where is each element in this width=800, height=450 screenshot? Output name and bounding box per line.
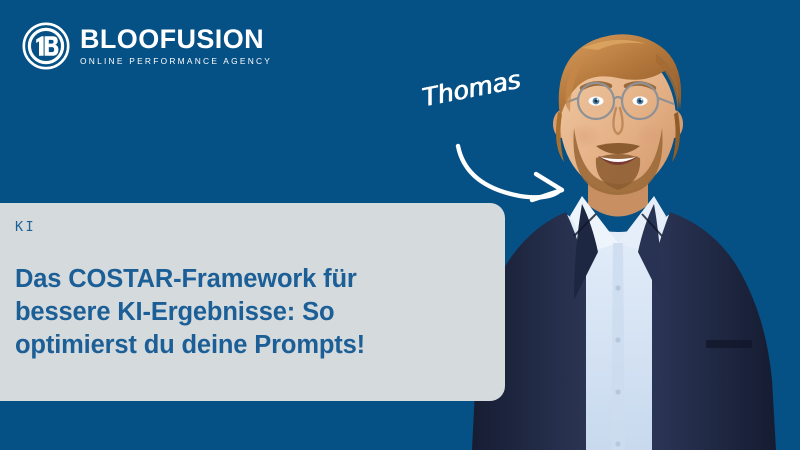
heading-line-3: optimierst du deine Prompts! <box>15 331 365 359</box>
person-portrait <box>470 0 800 450</box>
logo-wordmark: BLOOFUSION ONLINE PERFORMANCE AGENCY <box>80 26 272 65</box>
bloofusion-circle-monogram-icon <box>22 22 70 70</box>
brand-logo[interactable]: BLOOFUSION ONLINE PERFORMANCE AGENCY <box>22 22 272 70</box>
heading-line-2: bessere KI-Ergebnisse: So <box>15 298 334 326</box>
heading-line-1: Das COSTAR-Framework für <box>15 265 357 293</box>
logo-name: BLOOFUSION <box>80 26 272 53</box>
logo-tagline: ONLINE PERFORMANCE AGENCY <box>80 57 272 65</box>
content-card: KI Das COSTAR-Framework für bessere KI-E… <box>0 203 505 401</box>
slide-canvas: BLOOFUSION ONLINE PERFORMANCE AGENCY Tho… <box>0 0 800 450</box>
category-label: KI <box>15 221 459 235</box>
page-title: Das COSTAR-Framework für bessere KI-Erge… <box>15 263 445 363</box>
